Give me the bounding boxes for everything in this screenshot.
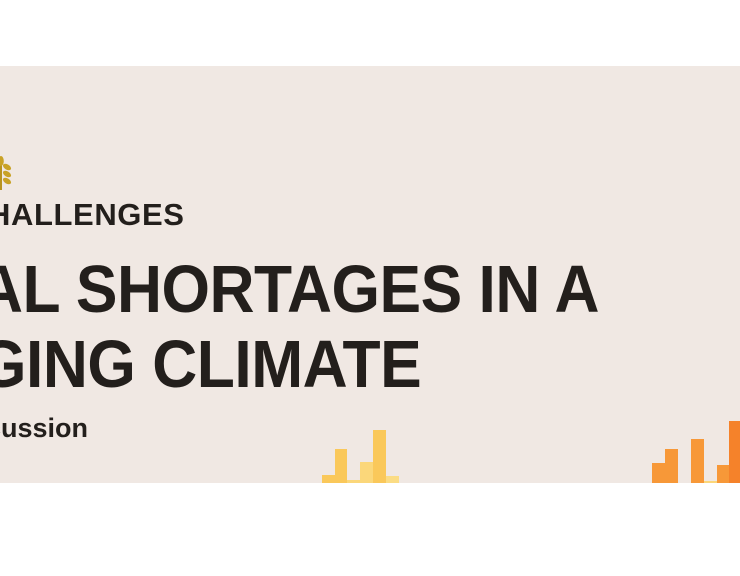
slide-panel: HALLENGES AL SHORTAGES IN A GING CLIMATE… (0, 66, 740, 483)
chart-bar-warm (360, 462, 373, 483)
slide-canvas: HALLENGES AL SHORTAGES IN A GING CLIMATE… (0, 0, 740, 576)
letterbox-band-top (0, 0, 740, 66)
page-title-line-2: GING CLIMATE (0, 331, 421, 398)
chart-bar-warm (373, 430, 386, 483)
chart-bar-warm (665, 449, 678, 483)
subtitle-label: cussion (0, 415, 88, 442)
chart-bar-warm (717, 465, 729, 483)
eyebrow-label: HALLENGES (0, 199, 185, 230)
chart-bar-warm (386, 476, 399, 483)
page-title-line-1: AL SHORTAGES IN A (0, 256, 599, 323)
chart-bar-warm (335, 449, 347, 483)
chart-bar-warm (691, 439, 704, 483)
chart-bar-warm (322, 475, 335, 483)
letterbox-band-bottom (0, 483, 740, 576)
wheat-grain-icon (0, 154, 18, 190)
chart-bar-warm (652, 463, 665, 483)
chart-bar-warm (729, 421, 740, 483)
